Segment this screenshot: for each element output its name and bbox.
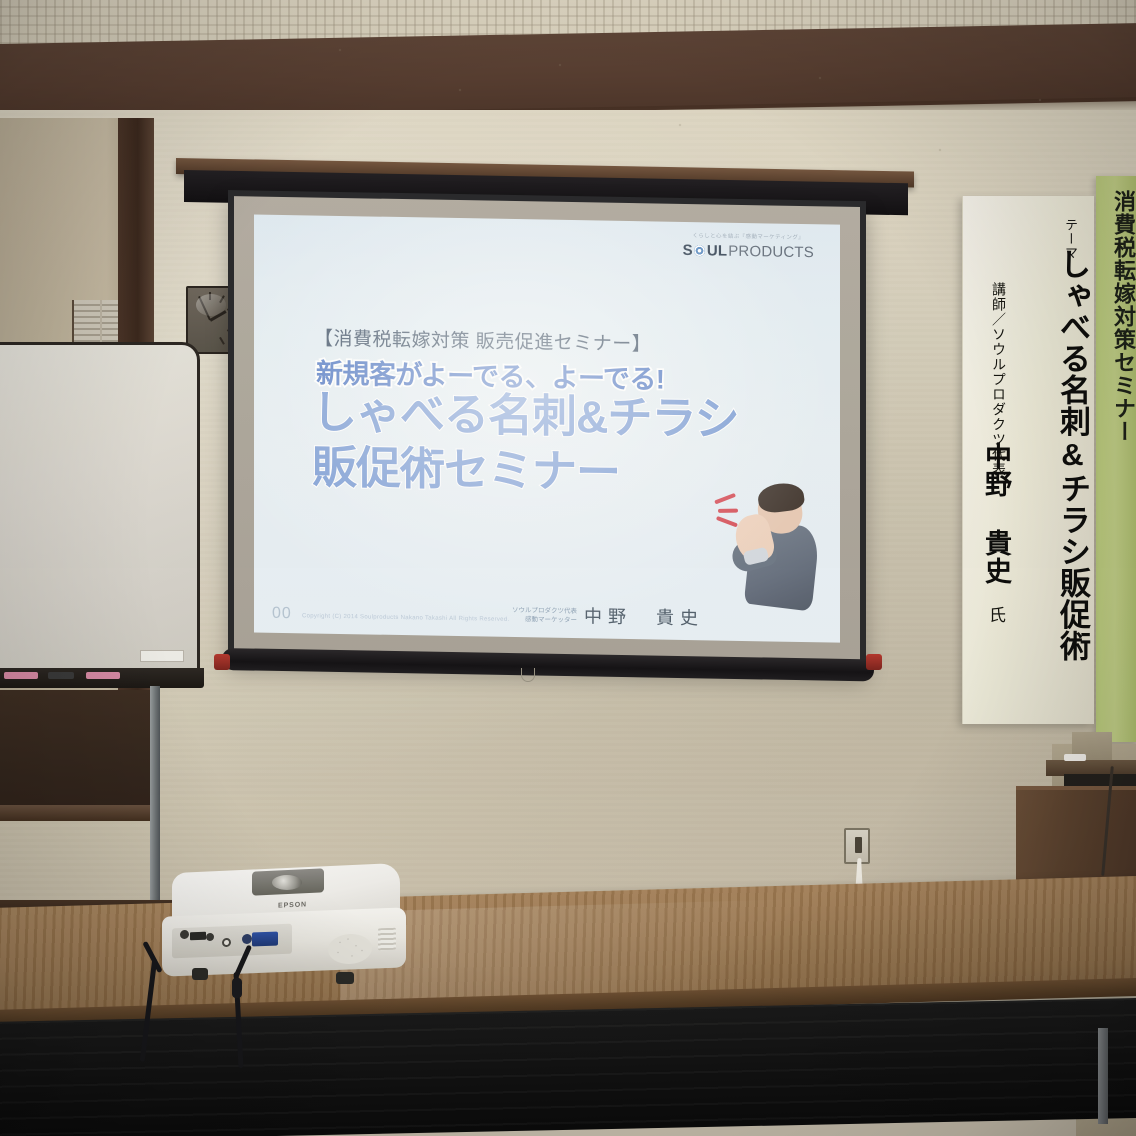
projector-foot	[336, 972, 354, 984]
projected-slide: くらしと心を結ぶ『感動マーケティング』 S UL PRODUCTS 【消費税転嫁…	[254, 214, 840, 642]
projector-exhaust-vent	[378, 928, 396, 951]
green-seminar-banner: 消費税転嫁対策セミナー	[1096, 176, 1136, 742]
remote-control[interactable]	[1064, 754, 1086, 761]
projector-lens	[272, 875, 302, 890]
marker-pen[interactable]	[48, 672, 74, 679]
slide-copyright: Copyright (C) 2014 Soulproducts Nakano T…	[302, 613, 509, 623]
marker-pen[interactable]	[4, 672, 38, 679]
logo-wordmark: S UL PRODUCTS	[683, 242, 814, 259]
marker-pen[interactable]	[86, 672, 120, 679]
whiteboard-label-sticker	[140, 650, 184, 662]
screen-bar-end-cap	[214, 654, 230, 670]
doorway-dark-interior	[0, 690, 150, 820]
speech-line-icon	[714, 493, 736, 504]
banner-lecturer-suffix: 氏	[983, 606, 1008, 623]
logo-products-word: PRODUCTS	[728, 243, 814, 259]
logo-letters-ul: UL	[707, 243, 727, 258]
shouting-man-illustration	[714, 476, 822, 608]
green-banner-text: 消費税転嫁対策セミナー	[1100, 190, 1134, 443]
white-theme-banner: テーマ しゃべる名刺&チラシ販促術 講師／ソウルプロダクツ代表 中野 貴史 氏	[962, 196, 1094, 724]
slide-title-line-1: しゃべる名刺&チラシ	[312, 386, 739, 444]
slide-content: くらしと心を結ぶ『感動マーケティング』 S UL PRODUCTS 【消費税転嫁…	[254, 214, 840, 642]
speaker-role: ソウルプロダクツ代表 感動マーケッター	[512, 605, 577, 626]
speaker-role-line-1: ソウルプロダクツ代表	[512, 605, 577, 616]
wall-clock	[186, 286, 230, 354]
slide-title-line-2: 販促術セミナー	[312, 440, 739, 502]
logo-letter-s: S	[683, 242, 693, 257]
speaker-role-line-2: 感動マーケッター	[512, 615, 577, 626]
slide-title: しゃべる名刺&チラシ 販促術セミナー	[312, 385, 739, 502]
projector-brand-label: EPSON	[278, 901, 307, 909]
black-table-skirt	[0, 997, 1136, 1136]
projector-hdmi-port[interactable]	[190, 932, 206, 941]
outlet-plug-slot	[855, 837, 862, 853]
screen-fabric: くらしと心を結ぶ『感動マーケティング』 S UL PRODUCTS 【消費税転嫁…	[234, 196, 860, 665]
slide-page-number: 00	[272, 605, 292, 623]
speech-line-icon	[718, 509, 738, 513]
epson-projector[interactable]: EPSON	[150, 868, 416, 1008]
screen-pull-handle[interactable]	[521, 668, 535, 682]
speech-line-icon	[716, 516, 738, 527]
logo-target-o-icon	[694, 245, 705, 256]
clock-glass-glare	[196, 294, 226, 316]
screen-bar-end-cap	[866, 654, 882, 670]
banner-theme-text: しゃべる名刺&チラシ販促術	[1057, 248, 1088, 688]
speaker-name: 中野 貴史	[584, 602, 704, 630]
projector-vga-connector[interactable]	[252, 932, 278, 947]
whiteboard[interactable]	[0, 342, 200, 672]
projection-screen: くらしと心を結ぶ『感動マーケティング』 S UL PRODUCTS 【消費税転嫁…	[228, 190, 866, 671]
clock-tick	[219, 337, 225, 345]
projector-foot	[192, 968, 208, 980]
whiteboard-marker-tray	[0, 668, 204, 688]
soul-products-logo: くらしと心を結ぶ『感動マーケティング』 S UL PRODUCTS	[683, 234, 814, 260]
table-leg	[1098, 1028, 1108, 1124]
cable-ferrite-core	[232, 978, 242, 998]
seminar-room-photo: くらしと心を結ぶ『感動マーケティング』 S UL PRODUCTS 【消費税転嫁…	[0, 0, 1136, 1136]
logo-tagline: くらしと心を結ぶ『感動マーケティング』	[683, 234, 814, 242]
door-sill	[0, 805, 152, 821]
banner-lecturer-name: 中野 貴史	[977, 442, 1016, 585]
